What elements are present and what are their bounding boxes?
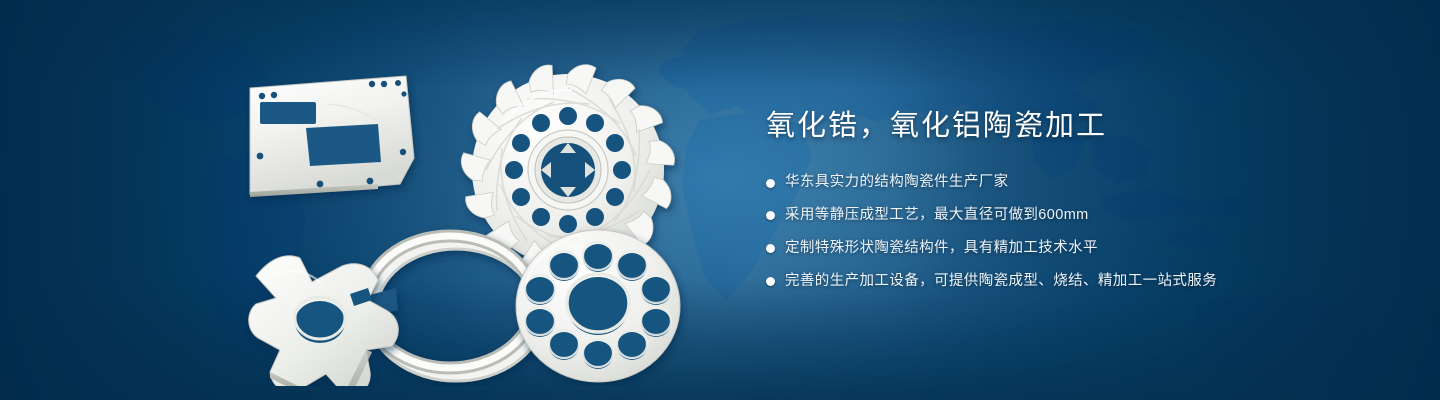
hero-banner: 氧化锆，氧化铝陶瓷加工 华东具实力的结构陶瓷件生产厂家 采用等静压成型工艺，最大… (0, 0, 1440, 400)
list-item: 完善的生产加工设备，可提供陶瓷成型、烧结、精加工一站式服务 (766, 271, 1366, 293)
ceramic-products-image (228, 34, 708, 386)
part-ceramic-rings (366, 236, 540, 376)
feature-text: 定制特殊形状陶瓷结构件，具有精加工技术水平 (785, 238, 1098, 260)
feature-text: 采用等静压成型工艺，最大直径可做到600mm (785, 205, 1089, 227)
banner-copy: 氧化锆，氧化铝陶瓷加工 华东具实力的结构陶瓷件生产厂家 采用等静压成型工艺，最大… (766, 108, 1366, 303)
feature-text: 华东具实力的结构陶瓷件生产厂家 (785, 172, 1009, 194)
banner-headline: 氧化锆，氧化铝陶瓷加工 (766, 108, 1366, 144)
feature-list: 华东具实力的结构陶瓷件生产厂家 采用等静压成型工艺，最大直径可做到600mm 定… (766, 172, 1366, 292)
part-ceramic-perforated-disc (516, 230, 680, 382)
bullet-dot-icon (766, 244, 775, 253)
list-item: 采用等静压成型工艺，最大直径可做到600mm (766, 205, 1366, 227)
list-item: 华东具实力的结构陶瓷件生产厂家 (766, 172, 1366, 194)
feature-text: 完善的生产加工设备，可提供陶瓷成型、烧结、精加工一站式服务 (785, 271, 1217, 293)
bullet-dot-icon (766, 211, 775, 220)
part-ceramic-cross-vane (249, 256, 399, 386)
bullet-dot-icon (766, 179, 775, 188)
bullet-dot-icon (766, 277, 775, 286)
list-item: 定制特殊形状陶瓷结构件，具有精加工技术水平 (766, 238, 1366, 260)
part-ceramic-plate (250, 76, 414, 197)
